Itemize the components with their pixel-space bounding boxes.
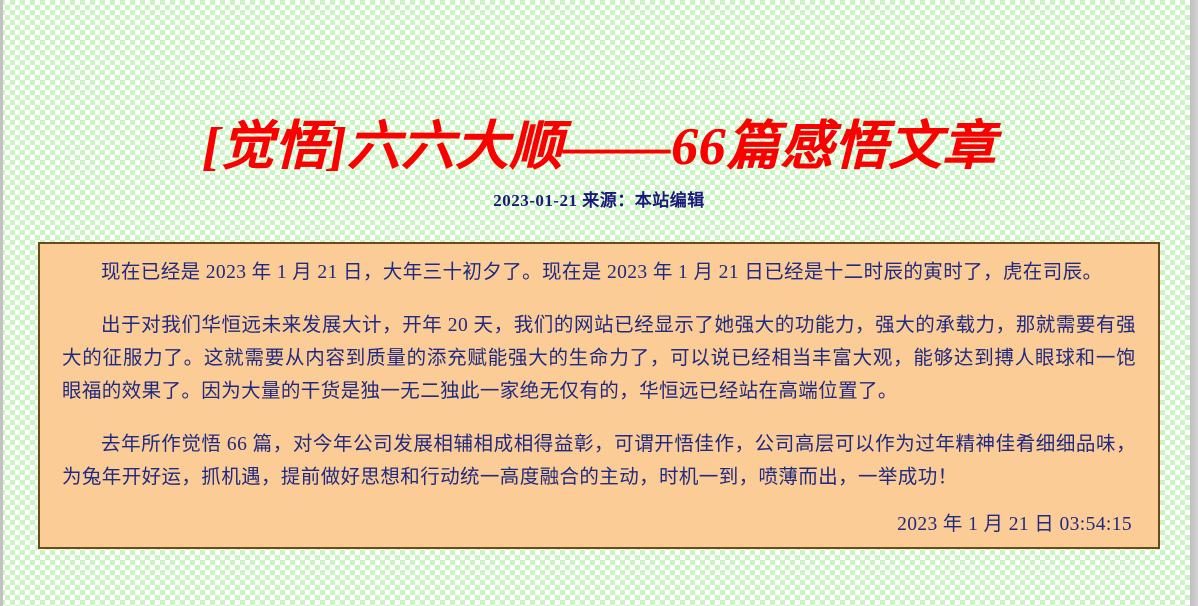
window-scrollbar-track[interactable] — [1190, 0, 1198, 606]
article-paragraph: 去年所作觉悟 66 篇，对今年公司发展相辅相成相得益彰，可谓开悟佳作，公司高层可… — [62, 428, 1136, 494]
article-body: 现在已经是 2023 年 1 月 21 日，大年三十初夕了。现在是 2023 年… — [62, 256, 1136, 494]
page-title: [觉悟]六六大顺——66篇感悟文章 — [0, 112, 1198, 182]
article-timestamp: 2023 年 1 月 21 日 03:54:15 — [897, 511, 1132, 539]
article-paragraph: 出于对我们华恒远未来发展大计，开年 20 天，我们的网站已经显示了她强大的功能力… — [62, 309, 1136, 408]
article-paragraph: 现在已经是 2023 年 1 月 21 日，大年三十初夕了。现在是 2023 年… — [62, 256, 1136, 289]
article-meta: 2023-01-21 来源：本站编辑 — [0, 189, 1198, 213]
window-left-edge — [0, 0, 3, 606]
article-content-box: 现在已经是 2023 年 1 月 21 日，大年三十初夕了。现在是 2023 年… — [38, 242, 1160, 549]
article-page: [觉悟]六六大顺——66篇感悟文章 2023-01-21 来源：本站编辑 现在已… — [0, 0, 1198, 606]
